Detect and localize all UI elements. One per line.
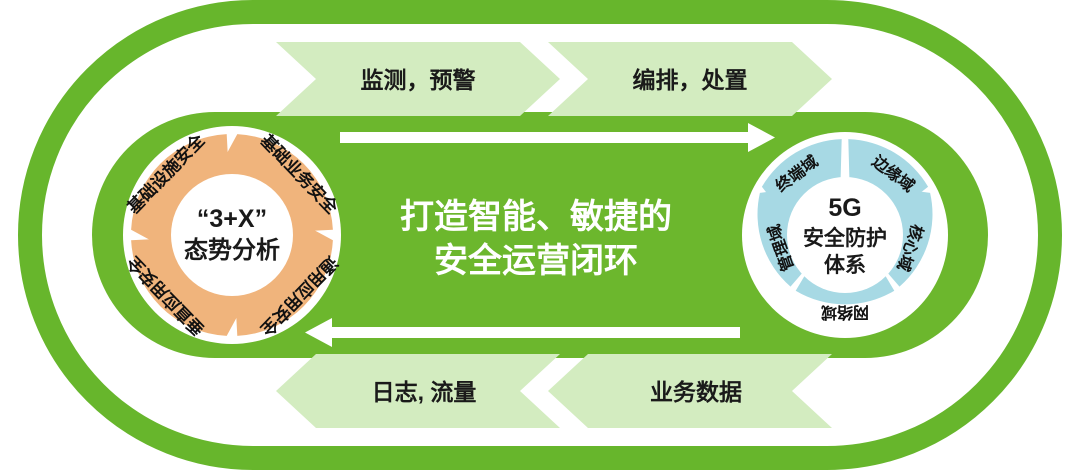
right-hub-line1: 5G	[828, 194, 861, 222]
top-banner-group: 监测，预警 编排，处置	[276, 42, 832, 116]
center-title-line1: 打造智能、敏捷的	[400, 198, 672, 236]
bottom-banner-2[interactable]: 业务数据	[548, 354, 832, 428]
right-hub-line3: 体系	[824, 254, 866, 277]
left-hub-line2: 态势分析	[184, 236, 280, 264]
left-hub-line1: “3+X”	[197, 205, 267, 233]
top-banner-2[interactable]: 编排，处置	[548, 42, 832, 116]
top-banner-2-label: 编排，处置	[633, 67, 748, 93]
bottom-banner-group: 日志, 流量 业务数据	[276, 354, 832, 428]
top-banner-1[interactable]: 监测，预警	[276, 42, 560, 116]
bottom-banner-2-label: 业务数据	[650, 379, 742, 405]
top-banner-1-label: 监测，预警	[361, 67, 476, 93]
bottom-banner-1[interactable]: 日志, 流量	[276, 354, 560, 428]
bottom-banner-1-label: 日志, 流量	[372, 379, 477, 405]
right-segment-label-network: 网络域	[821, 303, 869, 322]
left-wheel: “3+X” 态势分析 基础设施安全 基础业务安全 通用应用安全 垂直应用安全	[122, 126, 342, 344]
left-wheel-hub	[171, 174, 293, 296]
center-title-line2: 安全运营闭环	[434, 241, 638, 280]
security-loop-diagram: 监测，预警 编排，处置 日志, 流量 业务数据	[0, 0, 1080, 470]
right-hub-line2: 安全防护	[803, 226, 887, 250]
diagram-canvas: 监测，预警 编排，处置 日志, 流量 业务数据	[0, 0, 1080, 470]
right-wheel: 5G 安全防护 体系 终端域 边缘域 核心域 网络域 管理域	[742, 132, 948, 338]
